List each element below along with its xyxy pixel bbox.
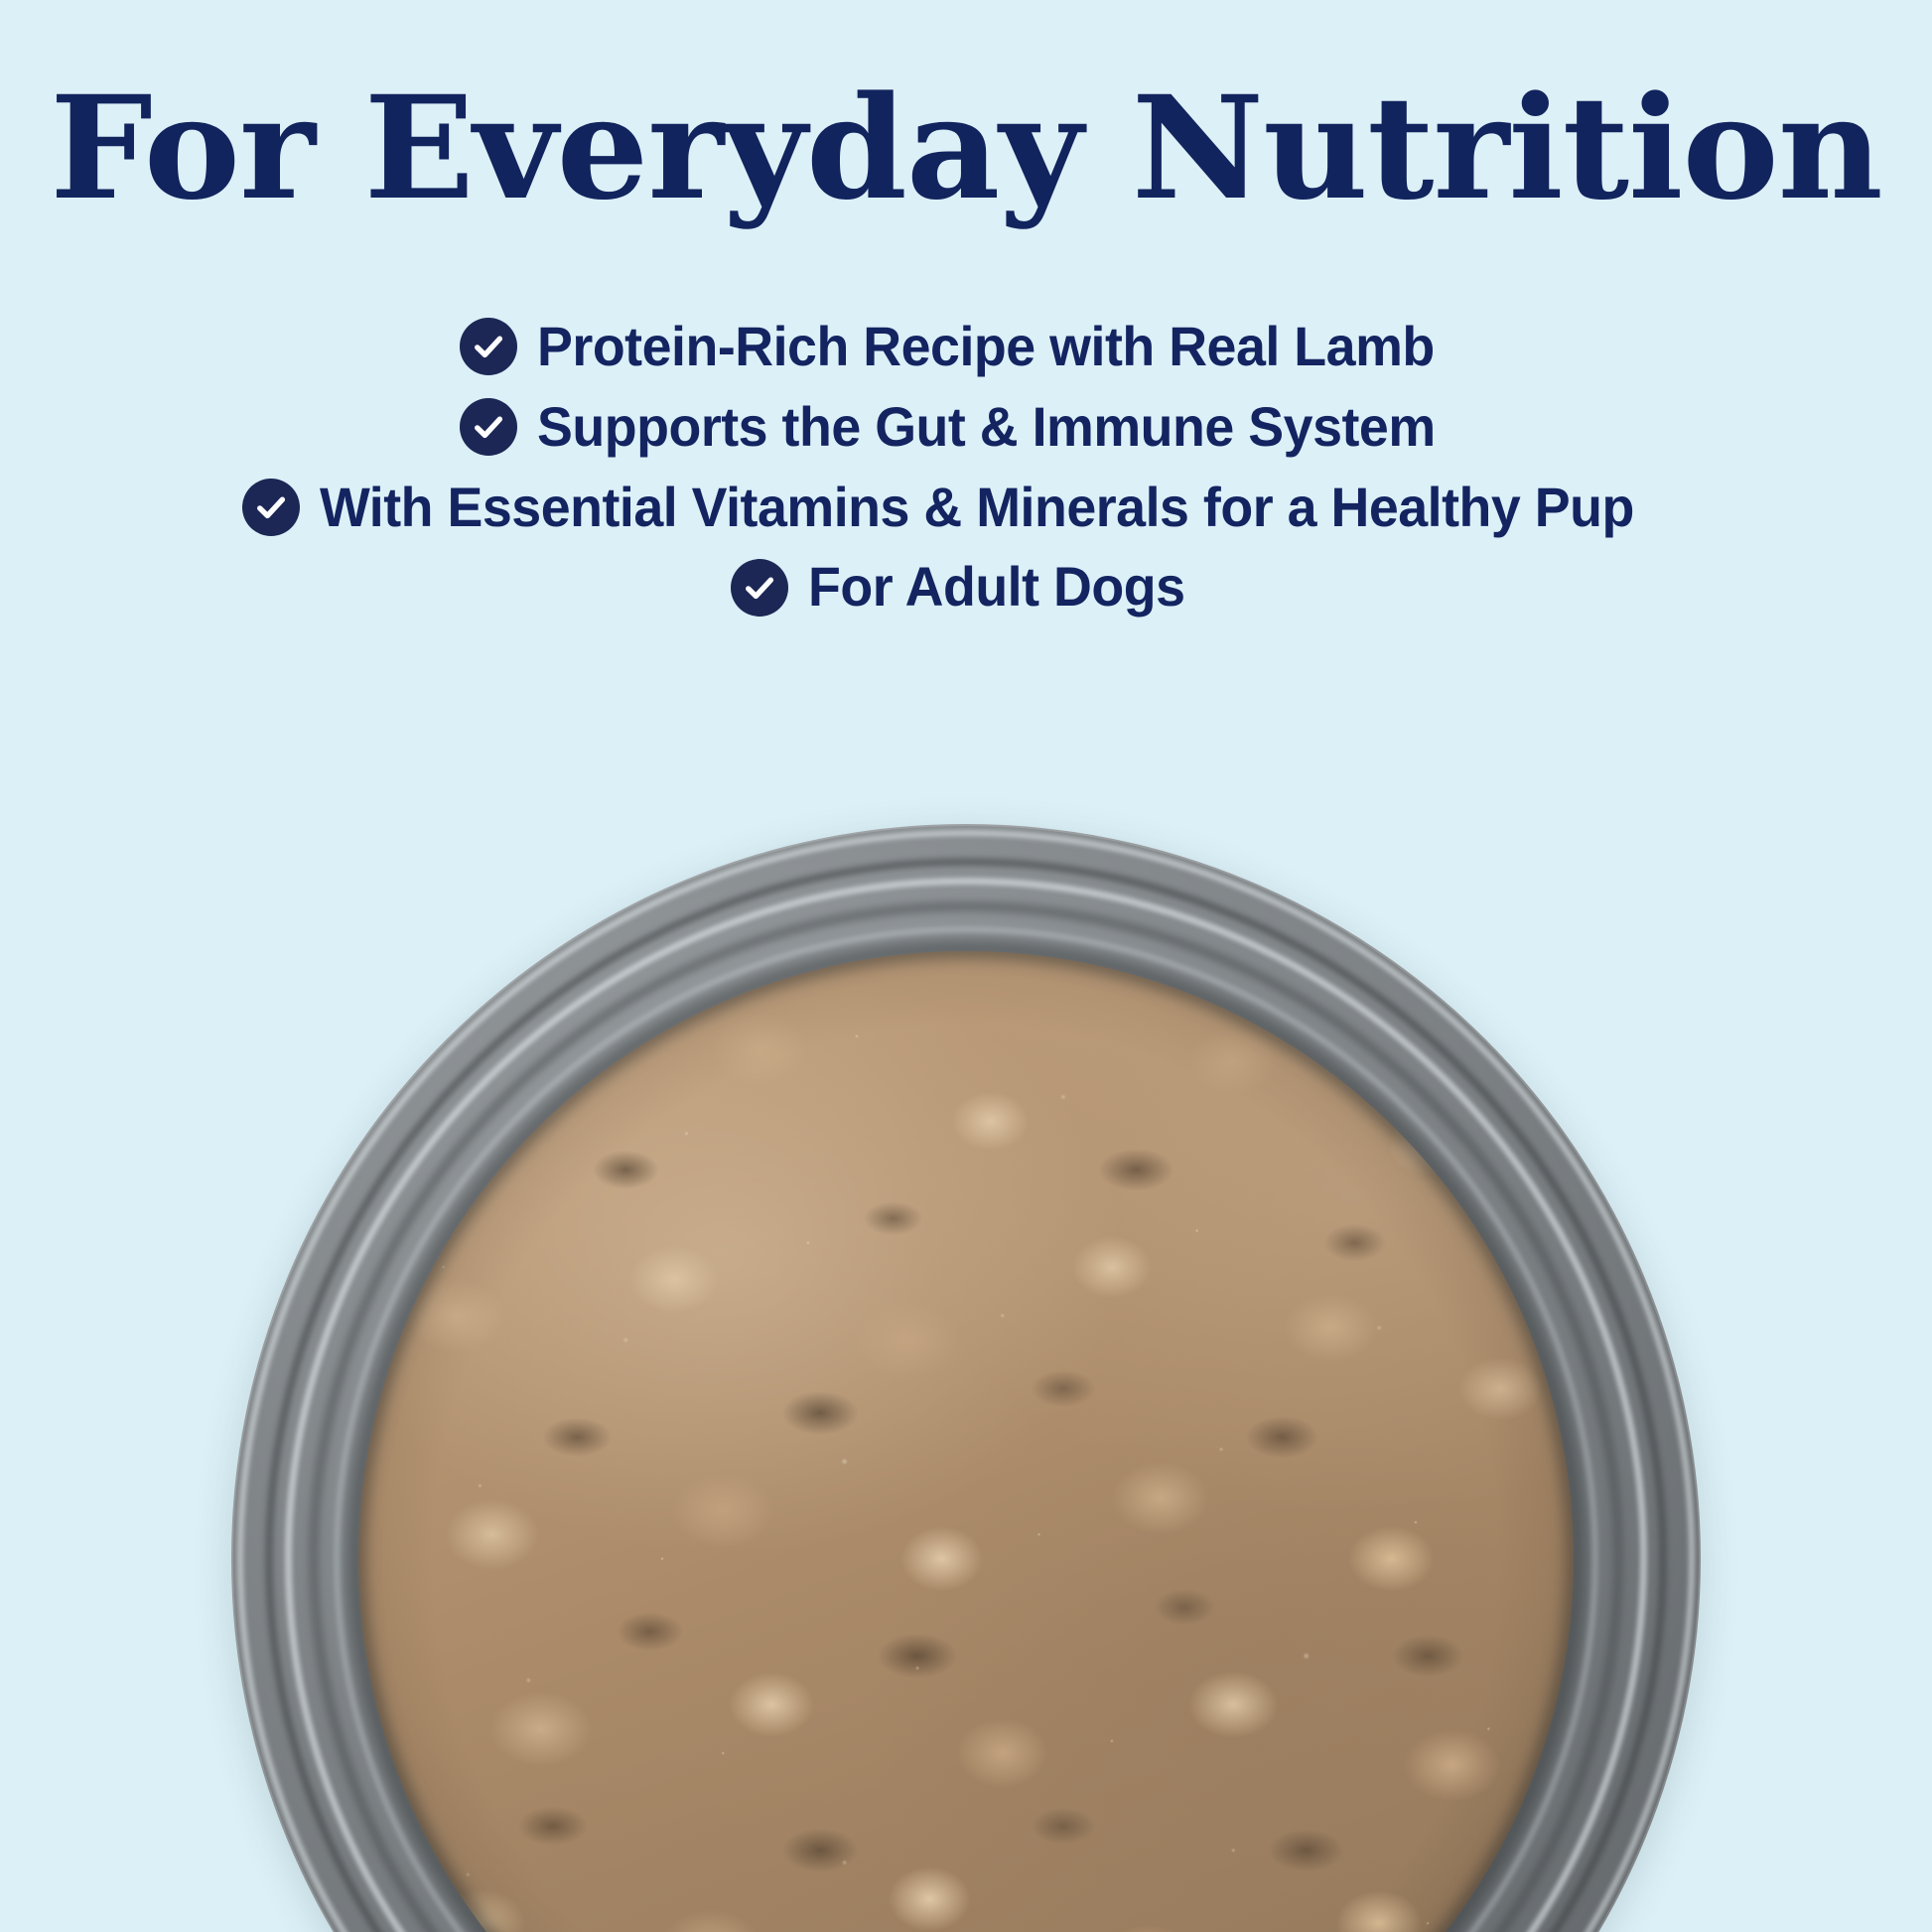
check-circle-icon	[731, 559, 788, 617]
wet-food-pate	[358, 951, 1574, 1932]
list-item: For Adult Dogs	[731, 558, 1200, 617]
check-circle-icon	[460, 398, 517, 456]
list-item: Supports the Gut & Immune System	[460, 398, 1472, 457]
food-edge-shadow	[358, 951, 1574, 1932]
list-item: With Essential Vitamins & Minerals for a…	[242, 479, 1689, 537]
list-item-label: Protein-Rich Recipe with Real Lamb	[537, 318, 1435, 376]
benefits-list: Protein-Rich Recipe with Real Lamb Suppo…	[0, 318, 1932, 617]
food-grain-texture	[358, 951, 1574, 1932]
check-circle-icon	[460, 318, 517, 375]
promo-graphic: For Everyday Nutrition Protein-Rich Reci…	[0, 0, 1932, 1932]
list-item-label: For Adult Dogs	[808, 558, 1185, 617]
page-title: For Everyday Nutrition	[0, 77, 1932, 219]
check-circle-icon	[242, 479, 300, 536]
list-item: Protein-Rich Recipe with Real Lamb	[460, 318, 1471, 376]
list-item-label: Supports the Gut & Immune System	[537, 398, 1436, 457]
list-item-label: With Essential Vitamins & Minerals for a…	[320, 479, 1634, 537]
dog-food-can	[231, 824, 1701, 1932]
